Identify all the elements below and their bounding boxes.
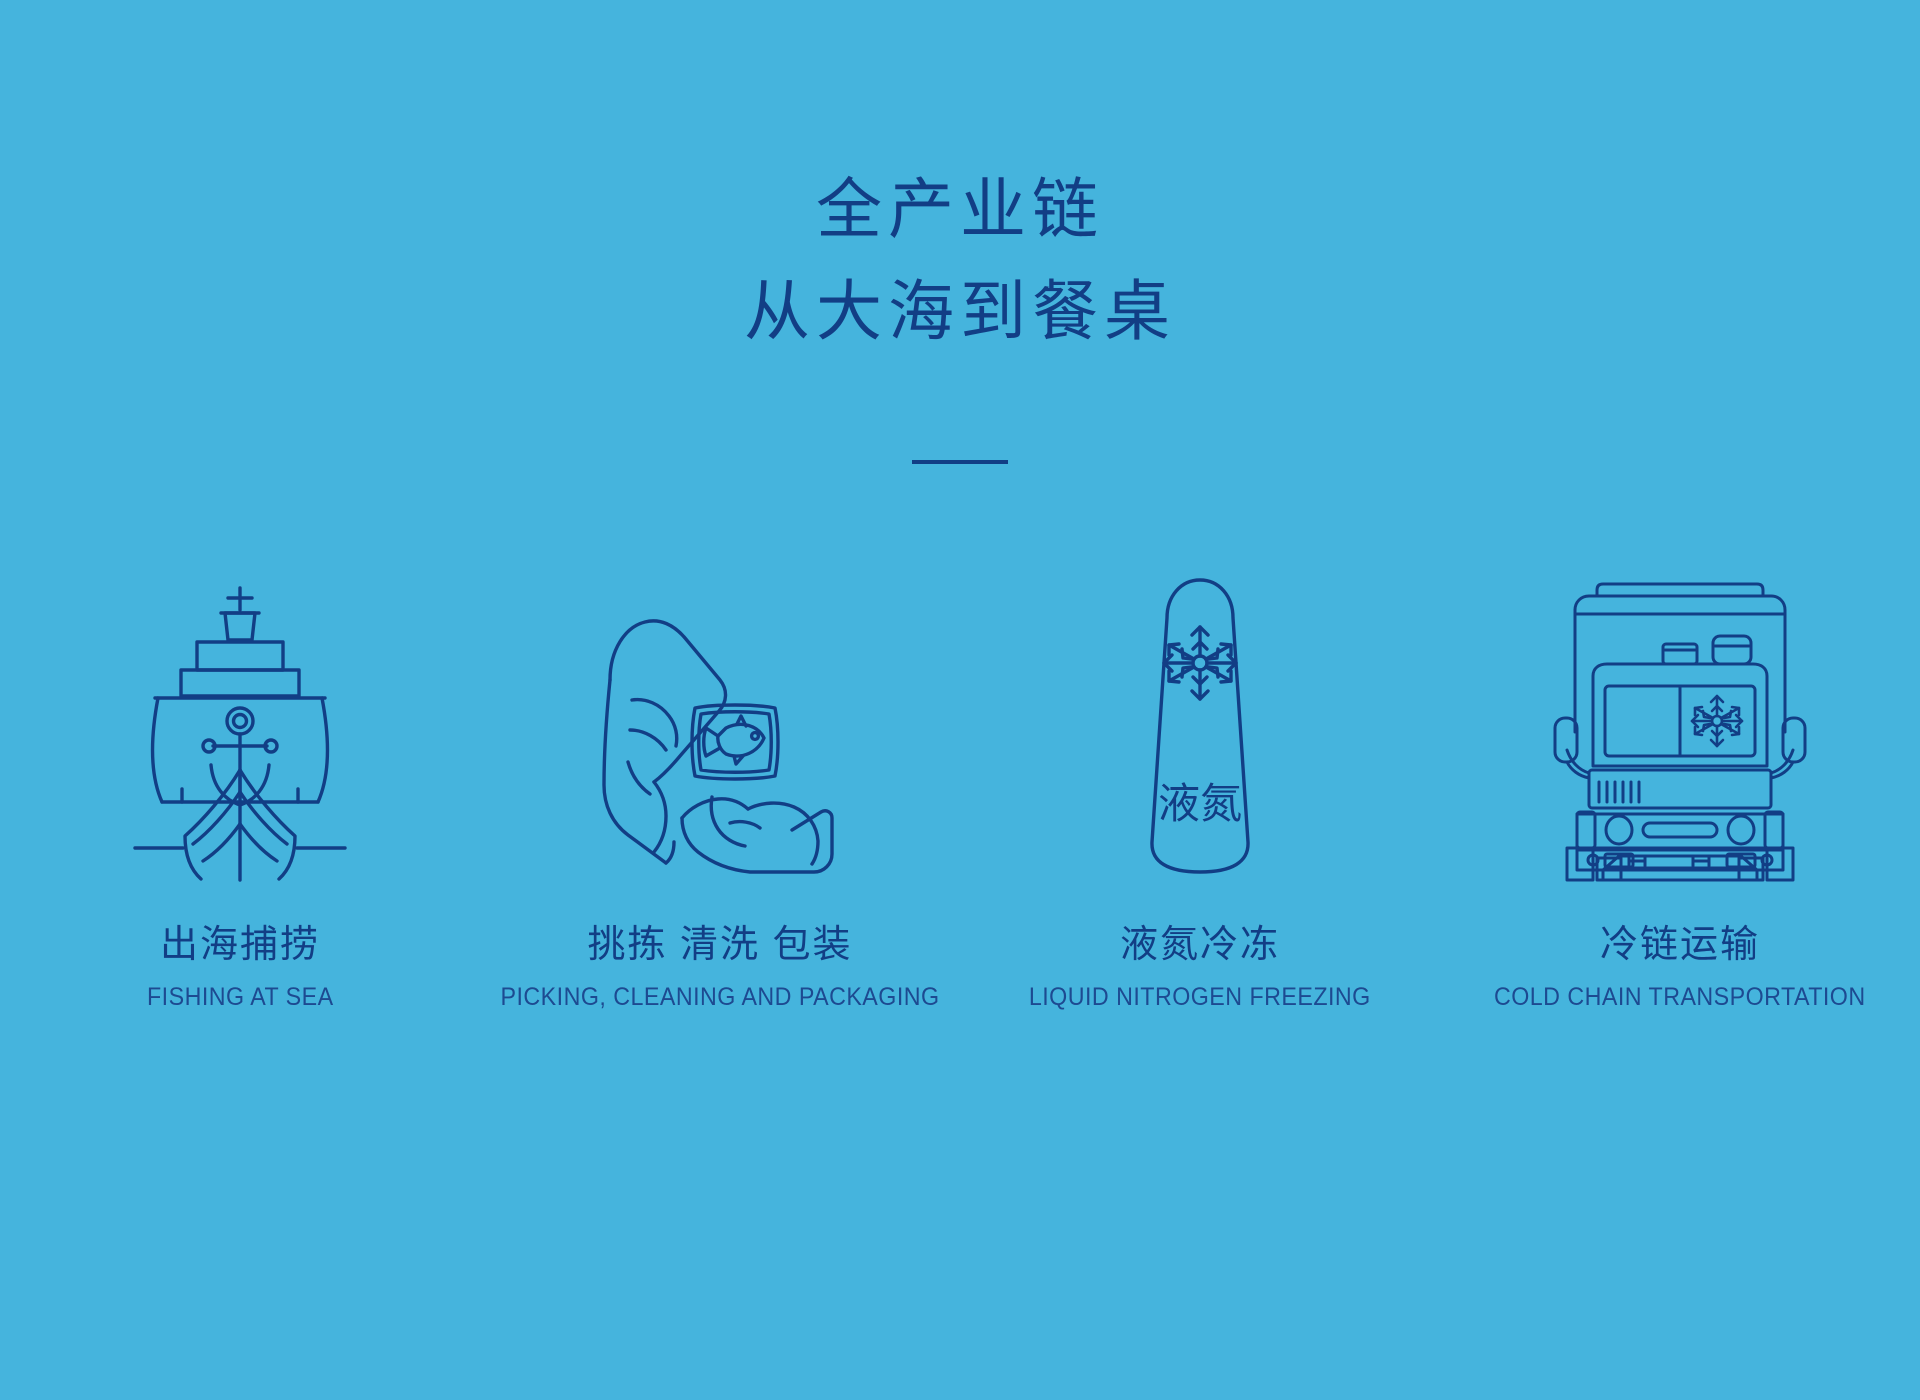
infographic-canvas: 全产业链 从大海到餐桌 bbox=[0, 0, 1920, 1400]
step-picking-cleaning-packaging[interactable]: 挑拣 清洗 包装 PICKING, CLEANING AND PACKAGING bbox=[480, 520, 960, 1012]
snowflake-icon bbox=[1692, 696, 1742, 746]
step-title-en: LIQUID NITROGEN FREEZING bbox=[1029, 982, 1371, 1012]
step-liquid-nitrogen-freezing[interactable]: 液氮 液氮冷冻 LIQUID NITROGEN FREEZING bbox=[960, 520, 1440, 1012]
page-title-line-1: 全产业链 bbox=[0, 160, 1920, 262]
snowflake-icon bbox=[1164, 627, 1236, 699]
step-title-cn: 冷链运输 bbox=[1600, 922, 1760, 968]
step-title-cn: 出海捕捞 bbox=[160, 922, 320, 968]
step-title-cn: 挑拣 清洗 包装 bbox=[587, 922, 852, 968]
liquid-nitrogen-tank-icon-box: 液氮 bbox=[1120, 520, 1280, 880]
page-title-line-2: 从大海到餐桌 bbox=[0, 262, 1920, 364]
hands-with-packaged-fish-icon bbox=[570, 580, 870, 880]
refrigerated-truck-icon bbox=[1545, 570, 1815, 880]
lower-hand-shape bbox=[682, 797, 832, 872]
step-title-cn: 液氮冷冻 bbox=[1120, 922, 1280, 968]
step-title-en: FISHING AT SEA bbox=[147, 982, 334, 1012]
packaged-fish-icon bbox=[692, 705, 778, 779]
refrigerated-truck-icon-box bbox=[1545, 520, 1815, 880]
fishing-boat-icon-box bbox=[125, 520, 355, 880]
title-divider bbox=[0, 460, 1920, 464]
tank-label: 液氮 bbox=[1158, 780, 1242, 827]
step-fishing-at-sea[interactable]: 出海捕捞 FISHING AT SEA bbox=[0, 520, 480, 1012]
upper-hand-shape bbox=[604, 621, 726, 863]
process-steps: 出海捕捞 FISHING AT SEA bbox=[0, 520, 1920, 1012]
liquid-nitrogen-tank-icon: 液氮 bbox=[1120, 570, 1280, 880]
step-cold-chain-transportation[interactable]: 冷链运输 COLD CHAIN TRANSPORTATION bbox=[1440, 520, 1920, 1012]
step-title-en: COLD CHAIN TRANSPORTATION bbox=[1494, 982, 1866, 1012]
step-title-en: PICKING, CLEANING AND PACKAGING bbox=[500, 982, 939, 1012]
fishing-boat-icon bbox=[125, 580, 355, 880]
page-title-block: 全产业链 从大海到餐桌 bbox=[0, 160, 1920, 364]
hands-with-packaged-fish-icon-box bbox=[570, 520, 870, 880]
divider-rule bbox=[912, 460, 1008, 464]
